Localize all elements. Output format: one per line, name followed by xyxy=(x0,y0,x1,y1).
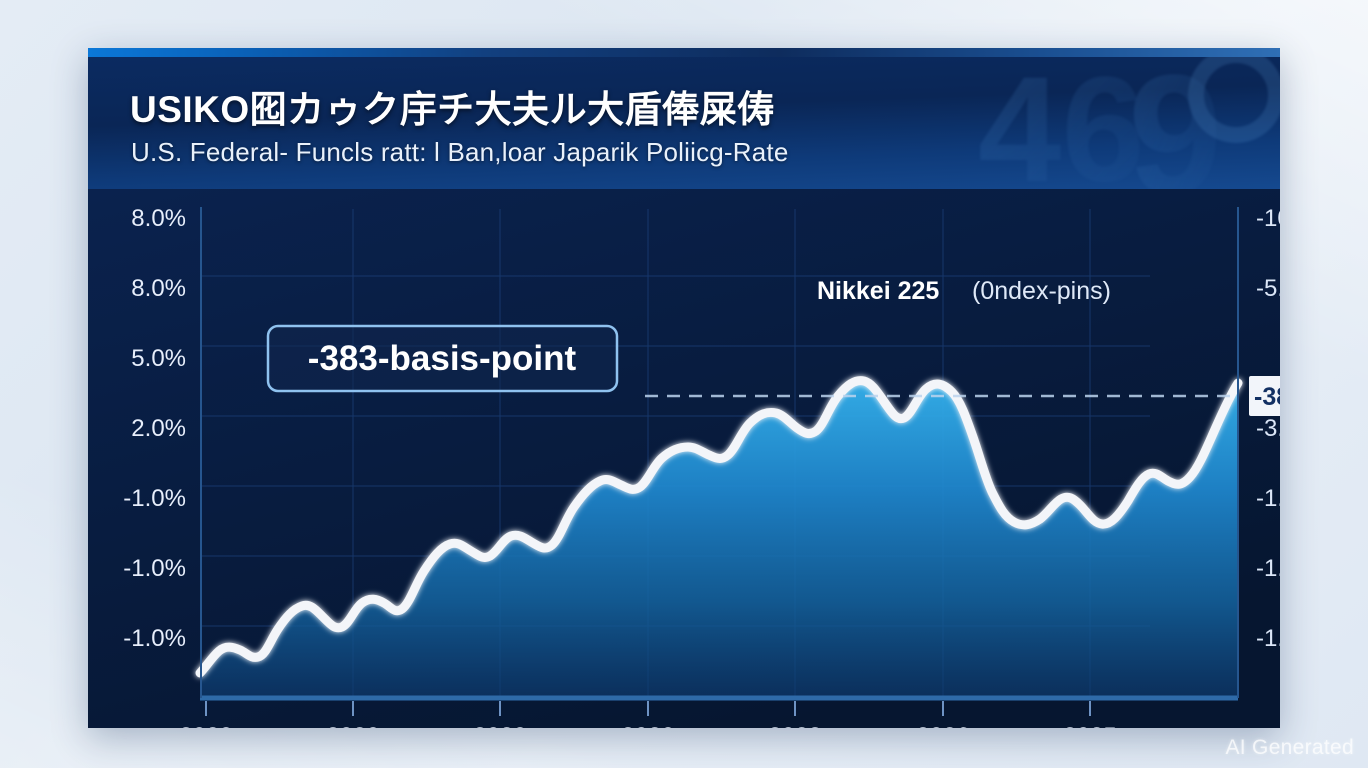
callout-annotation[interactable]: -383-basis-point xyxy=(268,326,617,391)
left-tick-0: 8.0% xyxy=(131,205,186,232)
x-tick-3: 2020 xyxy=(621,723,674,728)
left-tick-1: 8.0% xyxy=(131,275,186,302)
right-tick-6: -1.0% xyxy=(1256,625,1280,652)
header-decorative-shapes: 46 9 xyxy=(960,57,1280,189)
right-tick-3: -3.0% xyxy=(1256,415,1280,442)
chart-plot-area: 8.0% 8.0% 5.0% 2.0% -1.0% -1.0% -1.0% -1… xyxy=(88,189,1280,728)
card-top-accent-strip xyxy=(88,48,1280,57)
x-tick-4: 2023 xyxy=(768,723,821,728)
left-tick-3: 2.0% xyxy=(131,415,186,442)
right-tick-0: -100% xyxy=(1256,205,1280,232)
series-legend-name: Nikkei 225 xyxy=(817,277,939,305)
left-tick-6: -1.0% xyxy=(123,625,186,652)
right-tick-4: -1.0% xyxy=(1256,485,1280,512)
x-tick-6: 2025 xyxy=(1063,723,1116,728)
chart-card: 46 9 USIKO囮カゥク㡰チ大夫ル大盾俸屎俦 U.S. Federal- F… xyxy=(88,48,1280,728)
right-tick-1: -5.0% xyxy=(1256,275,1280,302)
right-axis-value-badge[interactable]: -380% xyxy=(1249,376,1280,416)
left-tick-2: 5.0% xyxy=(131,345,186,372)
x-tick-0: 2020 xyxy=(179,723,232,728)
x-tick-2: 2020 xyxy=(473,723,526,728)
series-legend-unit: (0ndex-pins) xyxy=(972,277,1111,305)
x-tick-1: 2020 xyxy=(326,723,379,728)
left-tick-4: -1.0% xyxy=(123,485,186,512)
page-subtitle: U.S. Federal- Funcls ratt: l Ban,loar Ja… xyxy=(131,137,789,168)
svg-text:46: 46 xyxy=(978,57,1145,189)
ai-generated-watermark: AI Generated xyxy=(1225,736,1354,760)
right-tick-5: -1.0% xyxy=(1256,555,1280,582)
page-title: USIKO囮カゥク㡰チ大夫ル大盾俸屎俦 xyxy=(130,79,775,133)
left-tick-5: -1.0% xyxy=(123,555,186,582)
chart-svg: 8.0% 8.0% 5.0% 2.0% -1.0% -1.0% -1.0% -1… xyxy=(88,189,1280,728)
right-axis-value-badge-label: -380% xyxy=(1254,383,1280,411)
x-tick-5: 2026 xyxy=(916,723,969,728)
chart-header: 46 9 USIKO囮カゥク㡰チ大夫ル大盾俸屎俦 U.S. Federal- F… xyxy=(88,57,1280,189)
callout-label: -383-basis-point xyxy=(308,339,577,378)
